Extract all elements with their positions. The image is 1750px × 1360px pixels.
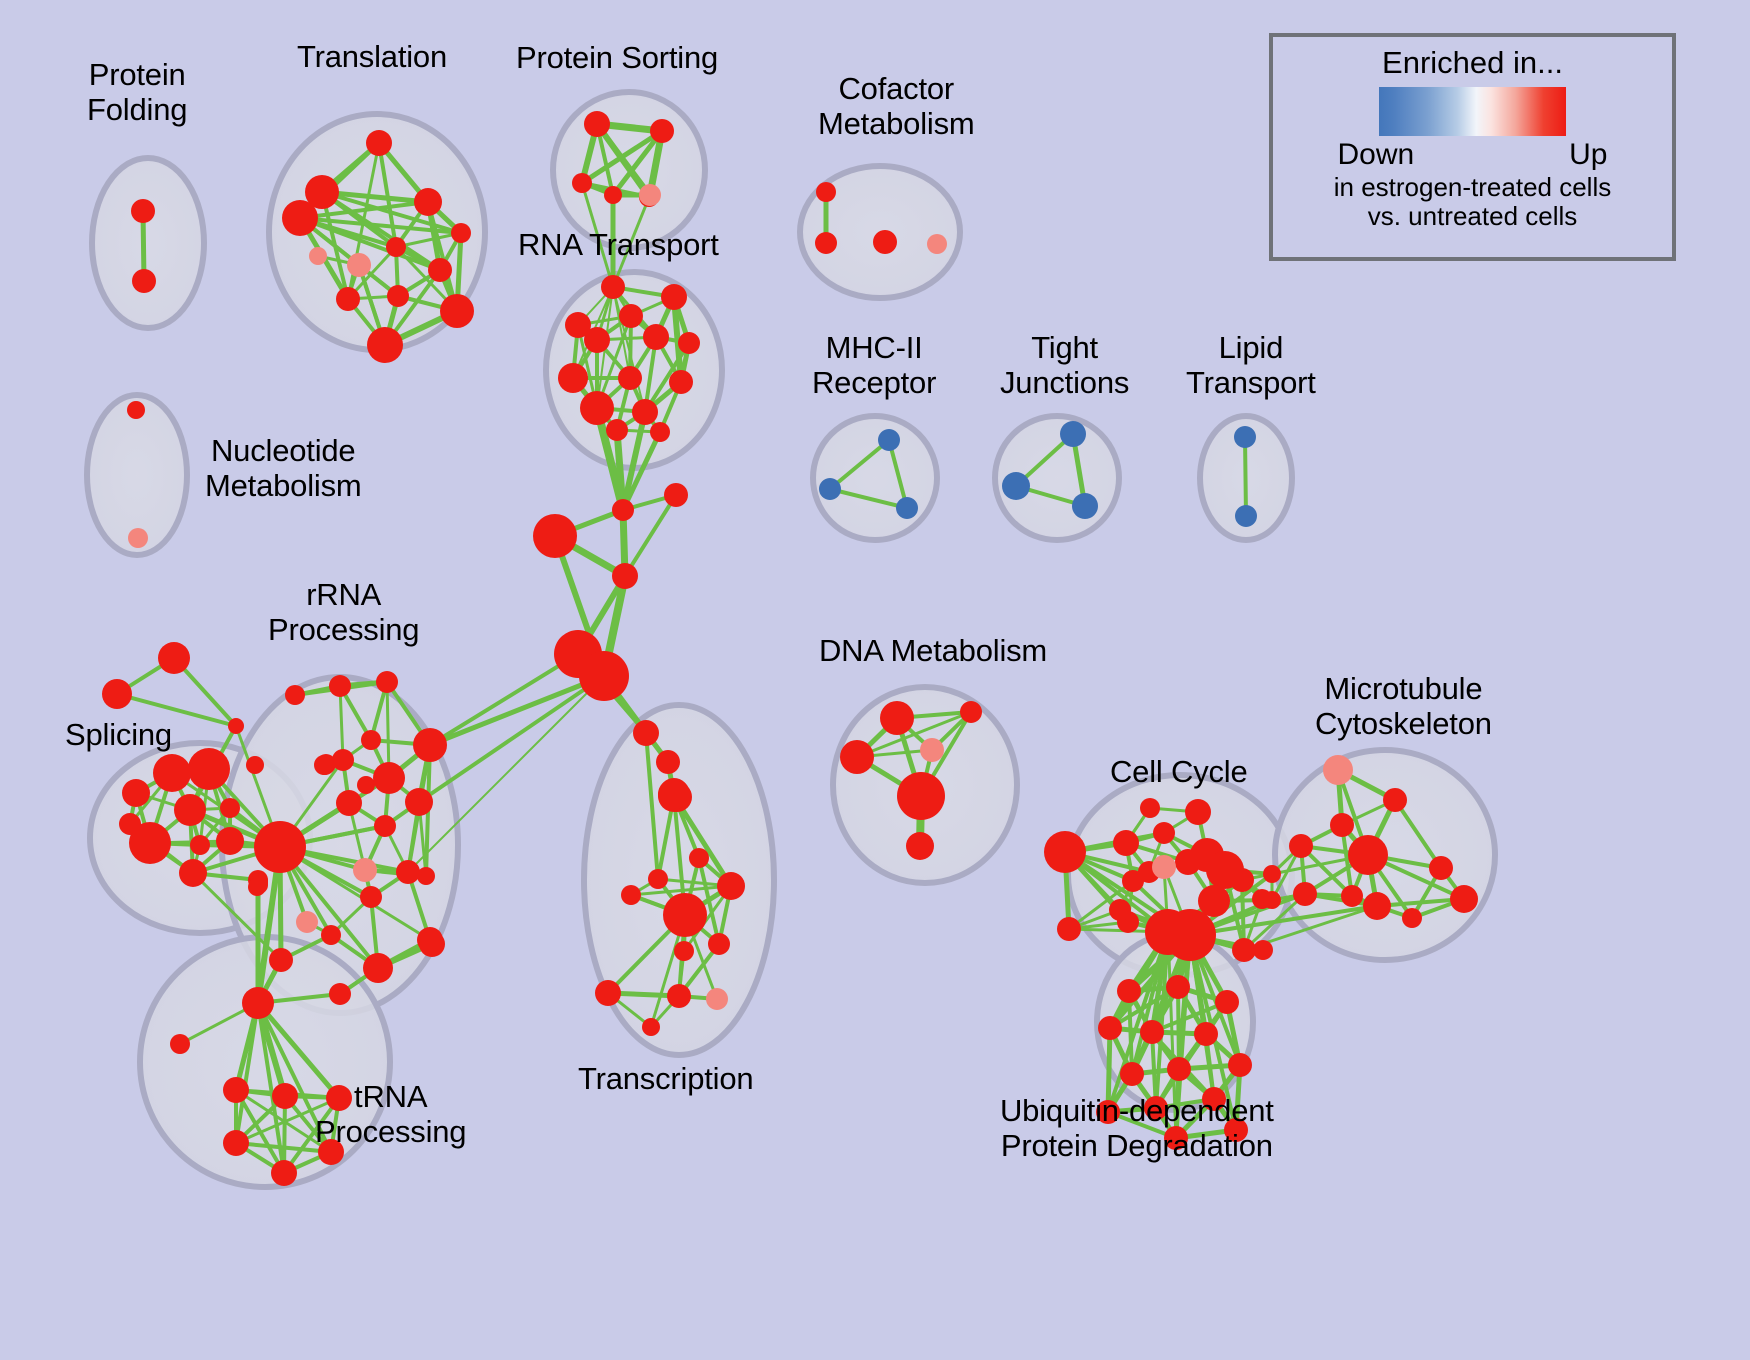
network-node[interactable] (1144, 1096, 1168, 1120)
network-node[interactable] (1096, 1100, 1120, 1124)
network-node[interactable] (1166, 975, 1190, 999)
network-node[interactable] (648, 869, 668, 889)
network-node[interactable] (332, 749, 354, 771)
network-node[interactable] (906, 832, 934, 860)
network-node[interactable] (170, 1034, 190, 1054)
network-node[interactable] (815, 232, 837, 254)
network-node[interactable] (658, 780, 688, 810)
network-node[interactable] (326, 1085, 352, 1111)
network-node[interactable] (190, 835, 210, 855)
network-node[interactable] (1402, 908, 1422, 928)
network-node[interactable] (373, 762, 405, 794)
network-node[interactable] (1044, 831, 1086, 873)
network-node[interactable] (656, 750, 680, 774)
network-node[interactable] (689, 848, 709, 868)
network-edge (1108, 1028, 1110, 1112)
network-node[interactable] (1109, 899, 1131, 921)
network-node[interactable] (414, 188, 442, 216)
legend-low-label: Down (1338, 138, 1415, 172)
network-node[interactable] (717, 872, 745, 900)
legend-endpoints: Down Up (1338, 138, 1608, 172)
network-node[interactable] (1152, 855, 1176, 879)
network-node[interactable] (1228, 1053, 1252, 1077)
network-node[interactable] (223, 1077, 249, 1103)
network-node[interactable] (1263, 865, 1281, 883)
network-node[interactable] (1117, 979, 1141, 1003)
network-node[interactable] (285, 685, 305, 705)
network-node[interactable] (282, 200, 318, 236)
network-node[interactable] (643, 324, 669, 350)
network-node[interactable] (179, 859, 207, 887)
network-node[interactable] (129, 822, 171, 864)
network-node[interactable] (650, 119, 674, 143)
network-node[interactable] (579, 651, 629, 701)
network-node[interactable] (878, 429, 900, 451)
network-node[interactable] (336, 790, 362, 816)
network-node[interactable] (1450, 885, 1478, 913)
network-node[interactable] (816, 182, 836, 202)
network-node[interactable] (612, 499, 634, 521)
network-node[interactable] (1215, 990, 1239, 1014)
network-node[interactable] (621, 885, 641, 905)
network-node[interactable] (405, 788, 433, 816)
network-node[interactable] (329, 675, 351, 697)
network-node[interactable] (158, 642, 190, 674)
network-node[interactable] (1224, 1118, 1248, 1142)
network-node[interactable] (419, 931, 445, 957)
network-node[interactable] (363, 953, 393, 983)
network-node[interactable] (122, 779, 150, 807)
network-node[interactable] (387, 285, 409, 307)
network-edge (117, 694, 236, 726)
network-node[interactable] (451, 223, 471, 243)
network-node[interactable] (353, 858, 377, 882)
network-node[interactable] (1098, 1016, 1122, 1040)
network-node[interactable] (216, 827, 244, 855)
network-node[interactable] (1120, 1062, 1144, 1086)
network-node[interactable] (246, 756, 264, 774)
network-node[interactable] (396, 860, 420, 884)
network-node[interactable] (661, 284, 687, 310)
cluster-ellipse[interactable] (813, 416, 937, 540)
network-node[interactable] (242, 987, 274, 1019)
network-node[interactable] (880, 701, 914, 735)
network-node[interactable] (1323, 755, 1353, 785)
network-node[interactable] (533, 514, 577, 558)
network-node[interactable] (708, 933, 730, 955)
network-node[interactable] (1198, 885, 1230, 917)
network-node[interactable] (336, 287, 360, 311)
network-node[interactable] (678, 332, 700, 354)
legend-high-label: Up (1569, 138, 1607, 172)
network-node[interactable] (367, 327, 403, 363)
network-node[interactable] (228, 718, 244, 734)
network-node[interactable] (428, 258, 452, 282)
network-node[interactable] (1145, 909, 1191, 955)
network-node[interactable] (584, 327, 610, 353)
network-node[interactable] (1167, 1057, 1191, 1081)
network-node[interactable] (1072, 493, 1098, 519)
network-node[interactable] (128, 528, 148, 548)
enrichment-map-figure: Protein FoldingTranslationProtein Sortin… (0, 0, 1750, 1360)
network-node[interactable] (1057, 917, 1081, 941)
network-node[interactable] (1140, 798, 1160, 818)
network-node[interactable] (188, 748, 230, 790)
network-node[interactable] (271, 1160, 297, 1186)
network-node[interactable] (357, 776, 375, 794)
network-node[interactable] (1289, 834, 1313, 858)
network-node[interactable] (706, 988, 728, 1010)
network-node[interactable] (897, 772, 945, 820)
network-node[interactable] (386, 237, 406, 257)
network-node[interactable] (1113, 830, 1139, 856)
network-node[interactable] (413, 728, 447, 762)
network-node[interactable] (321, 925, 341, 945)
network-node[interactable] (927, 234, 947, 254)
network-node[interactable] (1232, 938, 1256, 962)
network-node[interactable] (584, 111, 610, 137)
network-node[interactable] (595, 980, 621, 1006)
network-node[interactable] (361, 730, 381, 750)
network-node[interactable] (606, 419, 628, 441)
network-node[interactable] (131, 199, 155, 223)
network-node[interactable] (1002, 472, 1030, 500)
network-node[interactable] (1363, 892, 1391, 920)
color-scale-bar (1379, 87, 1566, 136)
network-node[interactable] (1263, 891, 1281, 909)
network-node[interactable] (663, 893, 707, 937)
network-node[interactable] (1194, 1022, 1218, 1046)
network-node[interactable] (667, 984, 691, 1008)
network-node[interactable] (920, 738, 944, 762)
network-node[interactable] (618, 366, 642, 390)
network-node[interactable] (642, 1018, 660, 1036)
network-node[interactable] (896, 497, 918, 519)
network-node[interactable] (580, 391, 614, 425)
network-node[interactable] (132, 269, 156, 293)
network-edge (430, 654, 578, 745)
network-node[interactable] (102, 679, 132, 709)
network-node[interactable] (347, 253, 371, 277)
network-node[interactable] (632, 399, 658, 425)
network-node[interactable] (272, 1083, 298, 1109)
network-node[interactable] (318, 1139, 344, 1165)
network-node[interactable] (329, 983, 351, 1005)
network-node[interactable] (220, 798, 240, 818)
legend-box: Enriched in... Down Up in estrogen-treat… (1269, 33, 1676, 261)
network-node[interactable] (1293, 882, 1317, 906)
network-node[interactable] (1185, 799, 1211, 825)
network-node[interactable] (819, 478, 841, 500)
network-node[interactable] (873, 230, 897, 254)
network-node[interactable] (366, 130, 392, 156)
network-node[interactable] (376, 671, 398, 693)
network-node[interactable] (296, 911, 318, 933)
network-node[interactable] (309, 247, 327, 265)
network-node[interactable] (840, 740, 874, 774)
network-node[interactable] (153, 754, 191, 792)
network-node[interactable] (558, 363, 588, 393)
network-node[interactable] (639, 184, 661, 206)
network-node[interactable] (669, 370, 693, 394)
network-node[interactable] (619, 304, 643, 328)
network-node[interactable] (374, 815, 396, 837)
network-edge (1178, 987, 1179, 1069)
network-node[interactable] (650, 422, 670, 442)
network-node[interactable] (1235, 505, 1257, 527)
network-node[interactable] (604, 186, 622, 204)
network-node[interactable] (1164, 1126, 1188, 1150)
network-node[interactable] (1206, 851, 1244, 889)
network-node[interactable] (1234, 426, 1256, 448)
network-node[interactable] (674, 941, 694, 961)
network-node[interactable] (612, 563, 638, 589)
network-edge (1245, 437, 1246, 516)
network-node[interactable] (572, 173, 592, 193)
network-node[interactable] (269, 948, 293, 972)
network-node[interactable] (1140, 1020, 1164, 1044)
network-node[interactable] (633, 720, 659, 746)
cluster-ellipse[interactable] (92, 158, 204, 328)
network-node[interactable] (223, 1130, 249, 1156)
network-node[interactable] (601, 275, 625, 299)
network-node[interactable] (360, 886, 382, 908)
network-node[interactable] (417, 867, 435, 885)
legend-title: Enriched in... (1382, 45, 1563, 81)
network-node[interactable] (1253, 940, 1273, 960)
network-node[interactable] (1122, 870, 1144, 892)
network-node[interactable] (127, 401, 145, 419)
network-node[interactable] (1383, 788, 1407, 812)
network-node[interactable] (664, 483, 688, 507)
network-node[interactable] (960, 701, 982, 723)
network-node[interactable] (1348, 835, 1388, 875)
network-node[interactable] (248, 878, 266, 896)
network-node[interactable] (1202, 1087, 1226, 1111)
network-node[interactable] (1429, 856, 1453, 880)
network-node[interactable] (254, 821, 306, 873)
network-node[interactable] (1330, 813, 1354, 837)
network-node[interactable] (1153, 822, 1175, 844)
network-node[interactable] (1060, 421, 1086, 447)
network-node[interactable] (1341, 885, 1363, 907)
network-node[interactable] (440, 294, 474, 328)
legend-caption-line-1: in estrogen-treated cells (1334, 173, 1611, 201)
legend-caption-line-2: vs. untreated cells (1368, 202, 1578, 230)
network-node[interactable] (174, 794, 206, 826)
